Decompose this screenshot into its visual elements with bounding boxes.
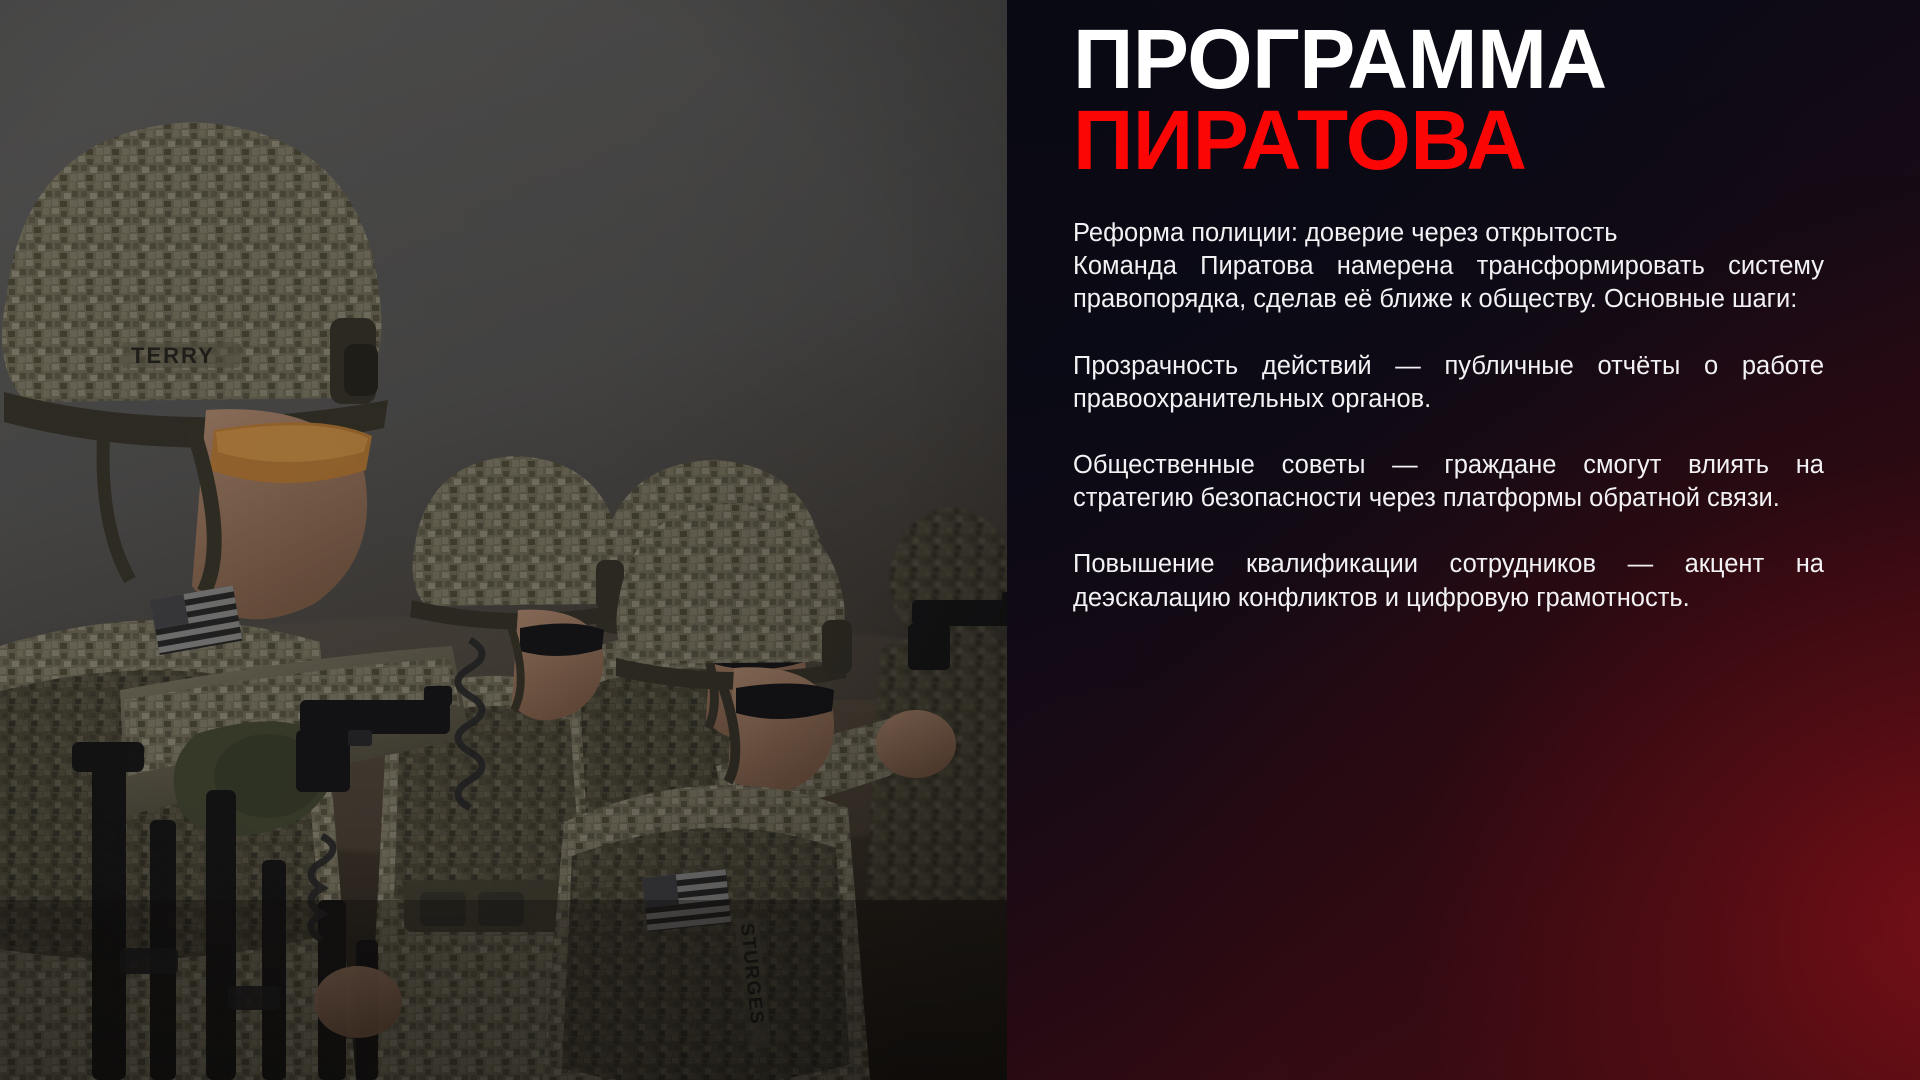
content-panel: ПРОГРАММА ПИРАТОВА Реформа полиции: дове… xyxy=(1007,0,1920,1080)
body-paragraph-4: Общественные советы — граждане смогут вл… xyxy=(1073,449,1824,515)
title-line-accent: ПИРАТОВА xyxy=(1073,100,1824,181)
title-line-primary: ПРОГРАММА xyxy=(1073,19,1824,100)
slide-title: ПРОГРАММА ПИРАТОВА xyxy=(1073,0,1824,182)
body-paragraph-5: Повышение квалификации сотрудников — акц… xyxy=(1073,548,1824,614)
soldiers-photo-pane: TERRY xyxy=(0,0,1007,1080)
paragraph-spacer xyxy=(1073,317,1824,350)
body-paragraph-1: Реформа полиции: доверие через открытост… xyxy=(1073,217,1824,250)
soldiers-firing-pistols-photo: TERRY xyxy=(0,0,1007,1080)
body-paragraph-3: Прозрачность действий — публичные отчёты… xyxy=(1073,350,1824,416)
svg-text:TERRY: TERRY xyxy=(131,343,215,368)
paragraph-spacer xyxy=(1073,515,1824,548)
paragraph-spacer xyxy=(1073,416,1824,449)
presentation-slide: TERRY xyxy=(0,0,1920,1080)
body-copy: Реформа полиции: доверие через открытост… xyxy=(1073,217,1824,615)
body-paragraph-2: Команда Пиратова намерена трансформирова… xyxy=(1073,250,1824,316)
